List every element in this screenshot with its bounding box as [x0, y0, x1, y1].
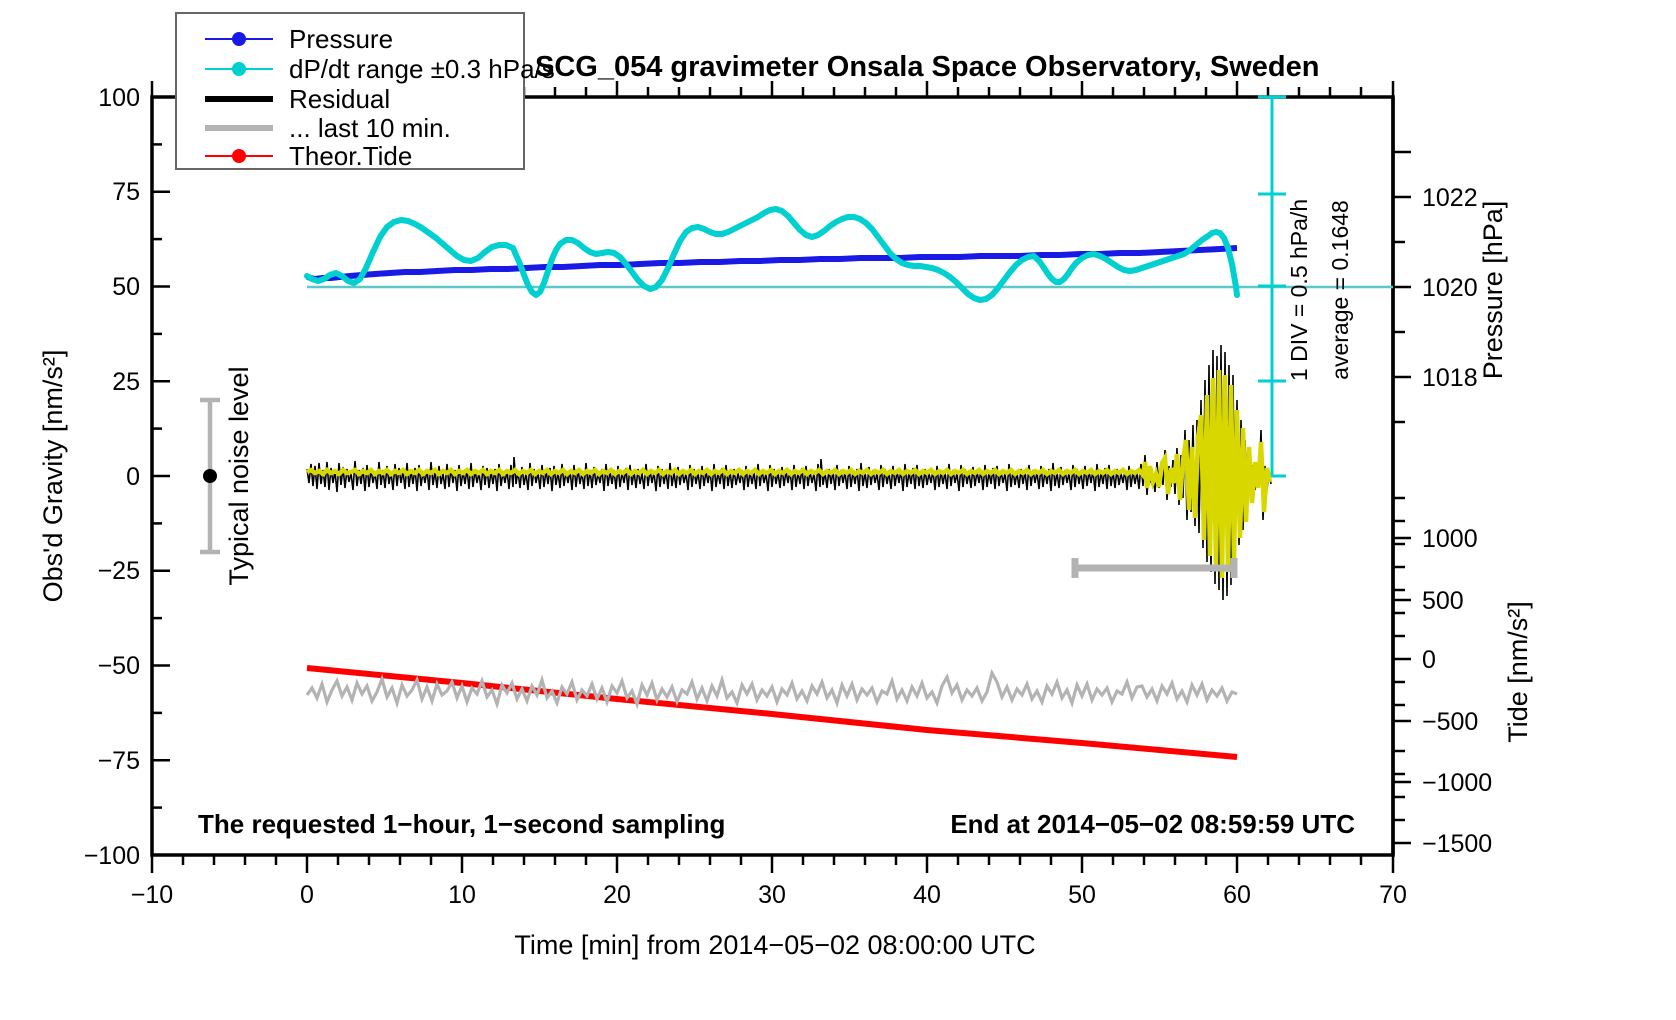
x-tick-label: −10: [131, 881, 173, 909]
typical-noise-level-label: Typical noise level: [224, 366, 254, 585]
y-right-tide-tick-label: −1500: [1422, 830, 1492, 858]
x-axis-title: Time [min] from 2014−05−02 08:00:00 UTC: [514, 930, 1035, 960]
y-right-tide-tick-label: −500: [1422, 708, 1478, 736]
y-left-tick-label: −100: [84, 842, 140, 870]
x-tick-label: 10: [448, 881, 476, 909]
y-right-tide-tick-label: −1000: [1422, 769, 1492, 797]
legend-label: dP/dt range ±0.3 hPa/s: [289, 54, 555, 84]
x-tick-label: 70: [1379, 881, 1407, 909]
chart-page: 100 75 50 25 0 −25 −50 −75 −100 Obs'd Gr…: [0, 0, 1676, 1020]
legend-marker-icon: [232, 62, 246, 76]
chart-title: SCG_054 gravimeter Onsala Space Observat…: [535, 51, 1319, 83]
y-left-tick-label: 0: [126, 463, 140, 491]
x-tick-label: 20: [603, 881, 631, 909]
y-left-tick-label: 50: [112, 273, 140, 301]
legend[interactable]: Pressure dP/dt range ±0.3 hPa/s Residual…: [176, 13, 555, 171]
legend-label: ... last 10 min.: [289, 113, 451, 143]
legend-label: Pressure: [289, 24, 393, 54]
dpdt-div-annotation: 1 DIV = 0.5 hPa/h: [1286, 199, 1312, 381]
y-right-pressure-tick-label: 1020: [1422, 274, 1478, 302]
y-right-tide-tick-label: 0: [1422, 646, 1436, 674]
y-left-tick-label: 25: [112, 368, 140, 396]
typical-noise-level-marker: Typical noise level: [200, 366, 254, 585]
y-left-tick-label: −50: [98, 652, 140, 680]
legend-label: Residual: [289, 84, 390, 114]
x-tick-label: 60: [1223, 881, 1251, 909]
gravimeter-chart: 100 75 50 25 0 −25 −50 −75 −100 Obs'd Gr…: [0, 0, 1676, 1020]
y-left-tick-label: 75: [112, 178, 140, 206]
y-left-tick-label: −75: [98, 747, 140, 775]
y-right-pressure-tick-label: 1022: [1422, 184, 1478, 212]
legend-marker-icon: [232, 149, 246, 163]
x-tick-label: 50: [1068, 881, 1096, 909]
footer-left-note: The requested 1−hour, 1−second sampling: [198, 809, 725, 839]
y-right-pressure-axis-title: Pressure [hPa]: [1478, 201, 1508, 380]
dpdt-average-annotation: average = 0.1648: [1327, 200, 1353, 380]
footer-right-note: End at 2014−05−02 08:59:59 UTC: [950, 809, 1355, 839]
legend-label: Theor.Tide: [289, 141, 412, 171]
y-right-tide-axis-title: Tide [nm/s²]: [1503, 601, 1533, 743]
y-right-tide-tick-label: 1000: [1422, 525, 1478, 553]
x-tick-label: 40: [913, 881, 941, 909]
y-right-pressure-tick-label: 1018: [1422, 364, 1478, 392]
legend-marker-icon: [232, 32, 246, 46]
y-left-tick-label: 100: [98, 84, 140, 112]
y-left-axis-title: Obs'd Gravity [nm/s²]: [38, 350, 68, 603]
x-tick-label: 30: [758, 881, 786, 909]
x-tick-label: 0: [300, 881, 314, 909]
y-right-tide-tick-label: 500: [1422, 587, 1464, 615]
y-left-tick-label: −25: [98, 557, 140, 585]
